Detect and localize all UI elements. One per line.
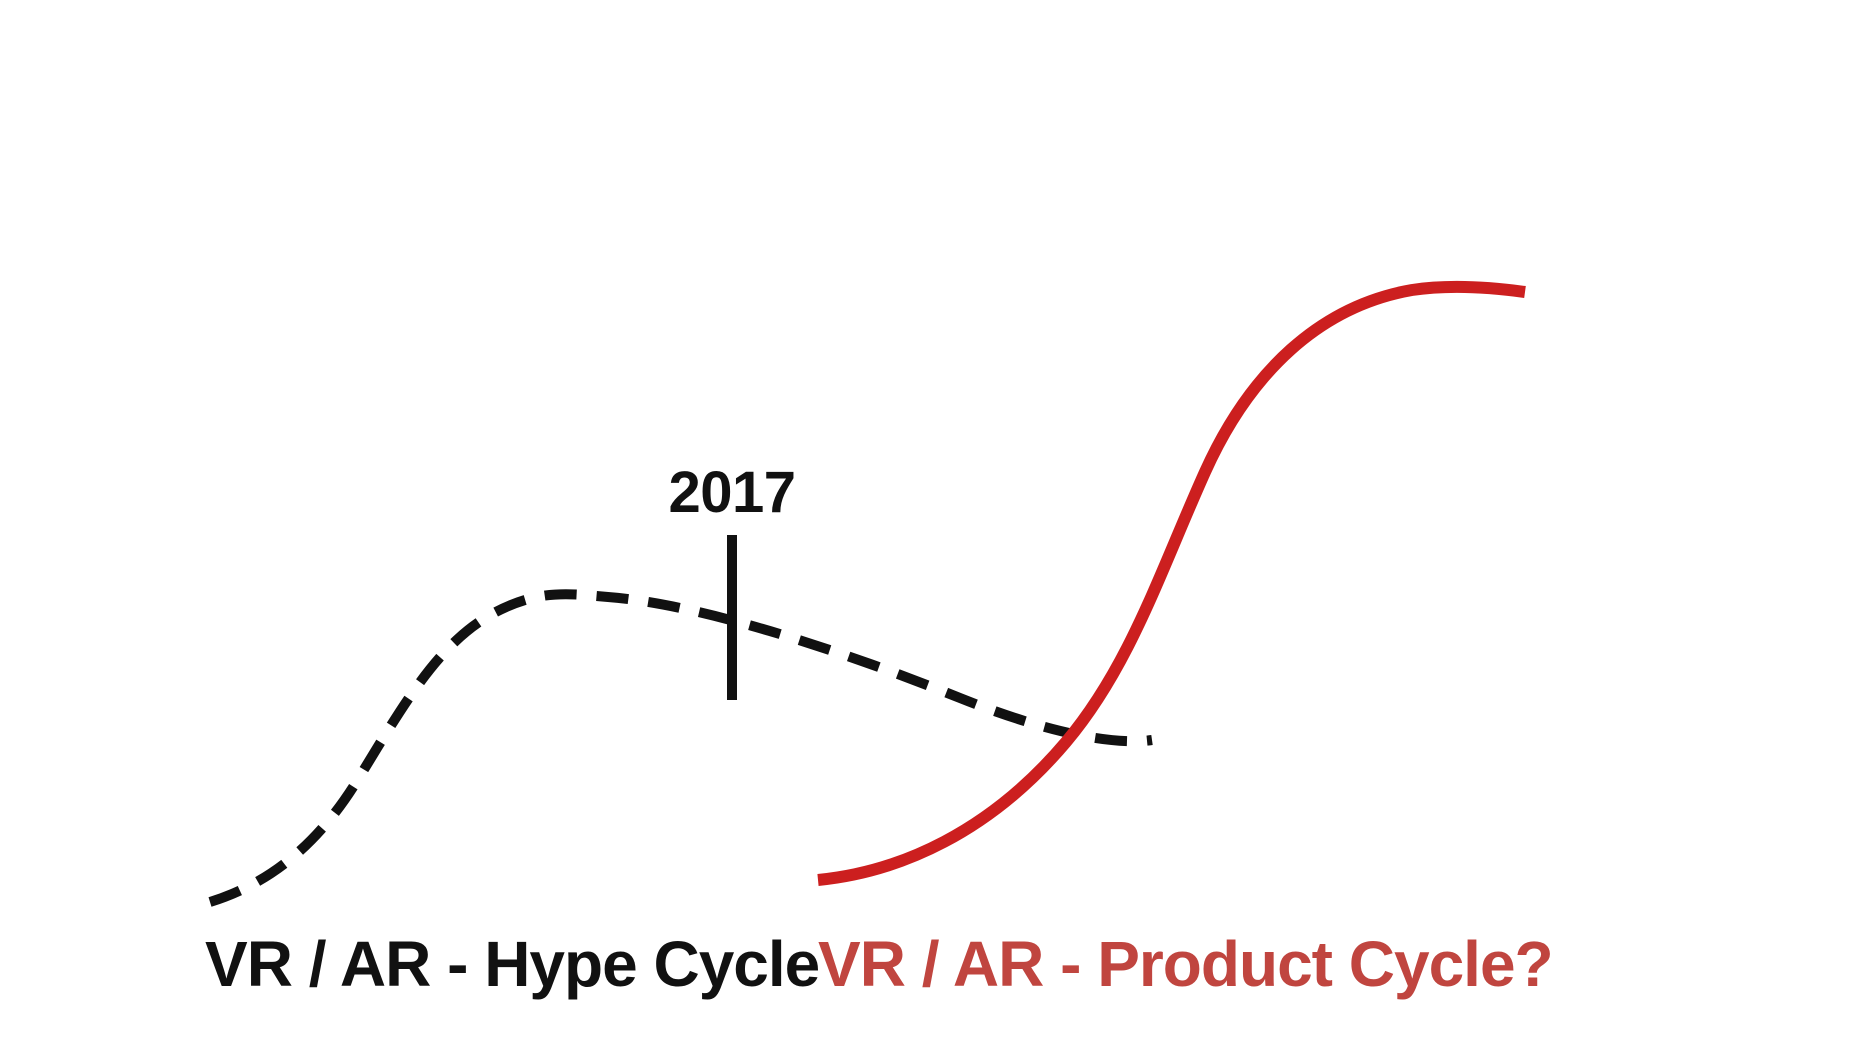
diagram-canvas: 2017 VR / AR - Hype Cycle VR / AR - Prod…	[0, 0, 1860, 1046]
product-cycle-curve	[818, 287, 1525, 880]
year-marker-label: 2017	[668, 460, 795, 525]
cycles-figure: 2017 VR / AR - Hype Cycle VR / AR - Prod…	[0, 0, 1860, 1046]
hype-cycle-curve	[210, 594, 1152, 902]
product-cycle-label: VR / AR - Product Cycle?	[818, 928, 1553, 1000]
hype-cycle-label: VR / AR - Hype Cycle	[205, 928, 819, 1000]
